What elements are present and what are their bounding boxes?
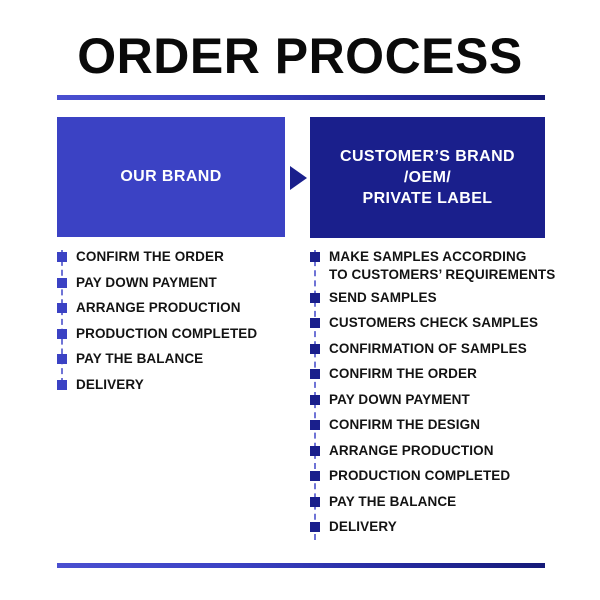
list-item-label: PRODUCTION COMPLETED (76, 325, 257, 343)
our-brand-header-label: OUR BRAND (120, 168, 221, 186)
list-item-label: CONFIRM THE ORDER (329, 365, 477, 383)
list-item-label: PAY DOWN PAYMENT (329, 391, 470, 409)
bullet-square-icon (310, 522, 320, 532)
list-item: CONFIRM THE DESIGN (310, 416, 560, 437)
list-item: PAY THE BALANCE (57, 350, 297, 371)
customers-brand-header-line-1: CUSTOMER’S BRAND (340, 146, 515, 167)
our-brand-header-box: OUR BRAND (57, 117, 285, 237)
bullet-square-icon (310, 344, 320, 354)
list-item-label: ARRANGE PRODUCTION (76, 299, 241, 317)
list-item-label: DELIVERY (329, 518, 397, 536)
bullet-square-icon (310, 252, 320, 262)
customers-brand-step-list: MAKE SAMPLES ACCORDING TO CUSTOMERS’ REQ… (310, 248, 560, 544)
list-item: CONFIRM THE ORDER (57, 248, 297, 269)
list-item-label: DELIVERY (76, 376, 144, 394)
our-brand-step-list: CONFIRM THE ORDER PAY DOWN PAYMENT ARRAN… (57, 248, 297, 401)
bullet-square-icon (310, 446, 320, 456)
bullet-square-icon (57, 303, 67, 313)
bullet-square-icon (310, 497, 320, 507)
list-item: CONFIRM THE ORDER (310, 365, 560, 386)
list-item: DELIVERY (310, 518, 560, 539)
list-item: SEND SAMPLES (310, 289, 560, 310)
list-item-label: MAKE SAMPLES ACCORDING TO CUSTOMERS’ REQ… (329, 248, 555, 284)
bullet-square-icon (310, 293, 320, 303)
list-item-label: CONFIRM THE DESIGN (329, 416, 480, 434)
customers-brand-header-box: CUSTOMER’S BRAND /OEM/ PRIVATE LABEL (310, 117, 545, 238)
top-divider (57, 95, 545, 100)
list-item: PRODUCTION COMPLETED (57, 325, 297, 346)
bottom-divider (57, 563, 545, 568)
bullet-square-icon (310, 369, 320, 379)
bullet-square-icon (310, 318, 320, 328)
list-item: MAKE SAMPLES ACCORDING TO CUSTOMERS’ REQ… (310, 248, 560, 284)
list-item-label: PAY THE BALANCE (76, 350, 203, 368)
list-item-label: CUSTOMERS CHECK SAMPLES (329, 314, 538, 332)
bullet-square-icon (310, 420, 320, 430)
customers-brand-header-label: CUSTOMER’S BRAND /OEM/ PRIVATE LABEL (340, 146, 515, 209)
bullet-square-icon (57, 380, 67, 390)
bullet-square-icon (57, 329, 67, 339)
order-process-infographic: ORDER PROCESS OUR BRAND CUSTOMER’S BRAND… (0, 0, 600, 600)
right-arrow-icon (290, 166, 307, 190)
list-item-label: CONFIRM THE ORDER (76, 248, 224, 266)
list-item: ARRANGE PRODUCTION (310, 442, 560, 463)
list-item: PAY DOWN PAYMENT (57, 274, 297, 295)
bullet-square-icon (57, 354, 67, 364)
customers-brand-header-line-3: PRIVATE LABEL (340, 188, 515, 209)
list-item: ARRANGE PRODUCTION (57, 299, 297, 320)
page-title: ORDER PROCESS (0, 28, 600, 84)
list-item-label: CONFIRMATION OF SAMPLES (329, 340, 527, 358)
list-item-label: PAY DOWN PAYMENT (76, 274, 217, 292)
bullet-square-icon (310, 395, 320, 405)
list-item: CONFIRMATION OF SAMPLES (310, 340, 560, 361)
list-item: CUSTOMERS CHECK SAMPLES (310, 314, 560, 335)
list-item-label: PRODUCTION COMPLETED (329, 467, 510, 485)
list-item: PRODUCTION COMPLETED (310, 467, 560, 488)
bullet-square-icon (57, 278, 67, 288)
customers-brand-header-line-2: /OEM/ (340, 167, 515, 188)
list-item: PAY THE BALANCE (310, 493, 560, 514)
list-item-label: PAY THE BALANCE (329, 493, 456, 511)
bullet-square-icon (310, 471, 320, 481)
list-item: PAY DOWN PAYMENT (310, 391, 560, 412)
list-item-label: SEND SAMPLES (329, 289, 437, 307)
list-item: DELIVERY (57, 376, 297, 397)
list-item-label: ARRANGE PRODUCTION (329, 442, 494, 460)
bullet-square-icon (57, 252, 67, 262)
